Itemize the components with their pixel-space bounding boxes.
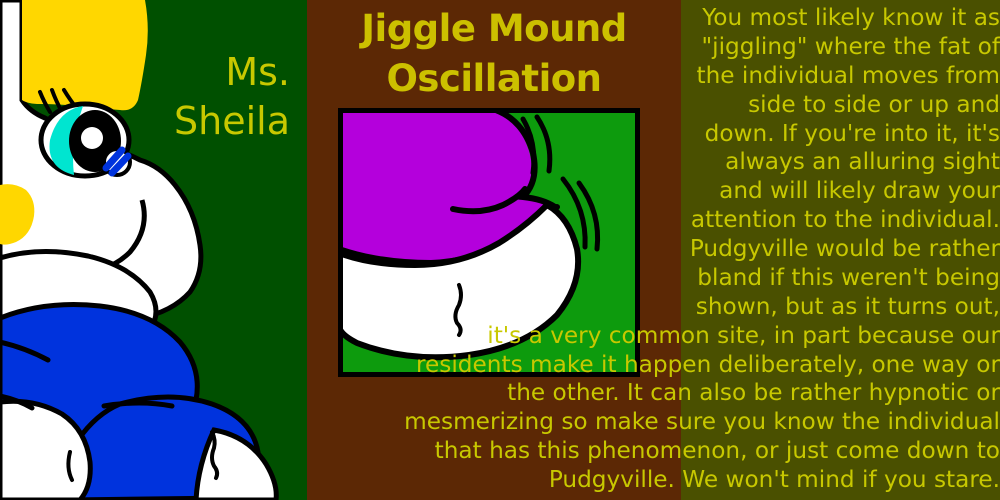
page-title-line-2: Oscillation [307, 54, 681, 104]
character-name-line-1: Ms. [140, 48, 290, 97]
page-title-line-1: Jiggle Mound [307, 4, 681, 54]
eye-highlight [81, 127, 103, 149]
infographic-card: Ms. Sheila Jiggle Mound Oscillation [0, 0, 1000, 500]
page-title: Jiggle Mound Oscillation [307, 4, 681, 105]
description-text: You most likely know it as "jiggling" wh… [681, 4, 1000, 322]
description-text-lower-overflow: it's a very common site, in part because… [395, 322, 1000, 495]
character-name: Ms. Sheila [140, 48, 290, 145]
lower-right-mass [196, 430, 276, 500]
description-text-upper: You most likely know it as "jiggling" wh… [681, 4, 1000, 322]
character-name-line-2: Sheila [140, 97, 290, 146]
